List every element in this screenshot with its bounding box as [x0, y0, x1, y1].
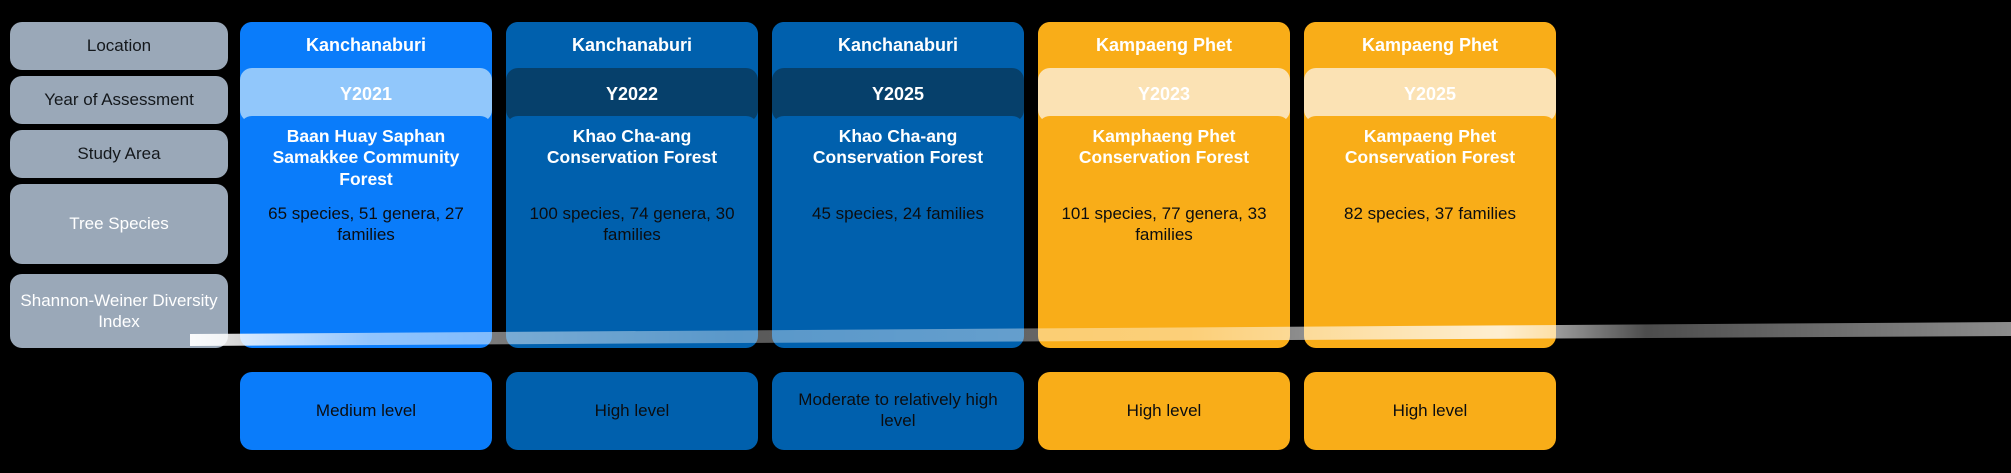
cell-tree-species: 45 species, 24 families	[772, 182, 1024, 292]
column-card-top: KanchanaburiY2021Baan Huay Saphan Samakk…	[240, 22, 492, 348]
data-column-4: Kampaeng PhetY2023Kamphaeng Phet Conserv…	[1038, 22, 1290, 450]
column-card-bottom: Moderate to relatively high level	[772, 372, 1024, 450]
cell-tree-species: 101 species, 77 genera, 33 families	[1038, 182, 1290, 292]
cell-tree-species: 65 species, 51 genera, 27 families	[240, 182, 492, 292]
row-label-column: Location Year of Assessment Study Area T…	[10, 0, 238, 473]
column-card-top: KanchanaburiY2022Khao Cha-ang Conservati…	[506, 22, 758, 348]
cell-year-of-assessment: Y2021	[240, 68, 492, 122]
cell-diversity-index: Medium level	[240, 372, 492, 450]
column-card-bottom: High level	[506, 372, 758, 450]
cell-year-of-assessment: Y2023	[1038, 68, 1290, 122]
cell-location: Kanchanaburi	[240, 22, 492, 70]
column-card-top: Kampaeng PhetY2023Kamphaeng Phet Conserv…	[1038, 22, 1290, 348]
cell-diversity-index: Moderate to relatively high level	[772, 372, 1024, 450]
column-card-bottom: Medium level	[240, 372, 492, 450]
column-card-bottom: High level	[1304, 372, 1556, 450]
row-label-study-area: Study Area	[10, 130, 228, 178]
cell-study-area: Khao Cha-ang Conservation Forest	[772, 116, 1024, 182]
row-label-study-area-text: Study Area	[77, 143, 160, 164]
cell-year-of-assessment: Y2025	[1304, 68, 1556, 122]
row-label-year-text: Year of Assessment	[44, 89, 194, 110]
cell-study-area: Baan Huay Saphan Samakkee Community Fore…	[240, 116, 492, 182]
cell-diversity-index: High level	[1304, 372, 1556, 450]
cell-diversity-index: High level	[1038, 372, 1290, 450]
row-label-year: Year of Assessment	[10, 76, 228, 124]
row-label-location: Location	[10, 22, 228, 70]
cell-study-area: Khao Cha-ang Conservation Forest	[506, 116, 758, 182]
cell-study-area: Kampaeng Phet Conservation Forest	[1304, 116, 1556, 182]
column-card-top: KanchanaburiY2025Khao Cha-ang Conservati…	[772, 22, 1024, 348]
comparison-table: Location Year of Assessment Study Area T…	[0, 0, 2011, 473]
data-column-5: Kampaeng PhetY2025Kampaeng Phet Conserva…	[1304, 22, 1556, 450]
cell-location: Kanchanaburi	[506, 22, 758, 70]
cell-location: Kanchanaburi	[772, 22, 1024, 70]
cell-year-of-assessment: Y2022	[506, 68, 758, 122]
row-label-shannon-index: Shannon-Weiner Diversity Index	[10, 274, 228, 348]
data-column-1: KanchanaburiY2021Baan Huay Saphan Samakk…	[240, 22, 492, 450]
cell-location: Kampaeng Phet	[1304, 22, 1556, 70]
data-column-3: KanchanaburiY2025Khao Cha-ang Conservati…	[772, 22, 1024, 450]
row-label-location-text: Location	[87, 35, 151, 56]
cell-tree-species: 100 species, 74 genera, 30 families	[506, 182, 758, 292]
cell-location: Kampaeng Phet	[1038, 22, 1290, 70]
column-card-bottom: High level	[1038, 372, 1290, 450]
cell-study-area: Kamphaeng Phet Conservation Forest	[1038, 116, 1290, 182]
column-card-top: Kampaeng PhetY2025Kampaeng Phet Conserva…	[1304, 22, 1556, 348]
cell-year-of-assessment: Y2025	[772, 68, 1024, 122]
row-label-tree-species: Tree Species	[10, 184, 228, 264]
data-column-2: KanchanaburiY2022Khao Cha-ang Conservati…	[506, 22, 758, 450]
cell-tree-species: 82 species, 37 families	[1304, 182, 1556, 292]
row-label-shannon-index-text: Shannon-Weiner Diversity Index	[20, 290, 218, 333]
row-label-tree-species-text: Tree Species	[69, 213, 169, 234]
cell-diversity-index: High level	[506, 372, 758, 450]
